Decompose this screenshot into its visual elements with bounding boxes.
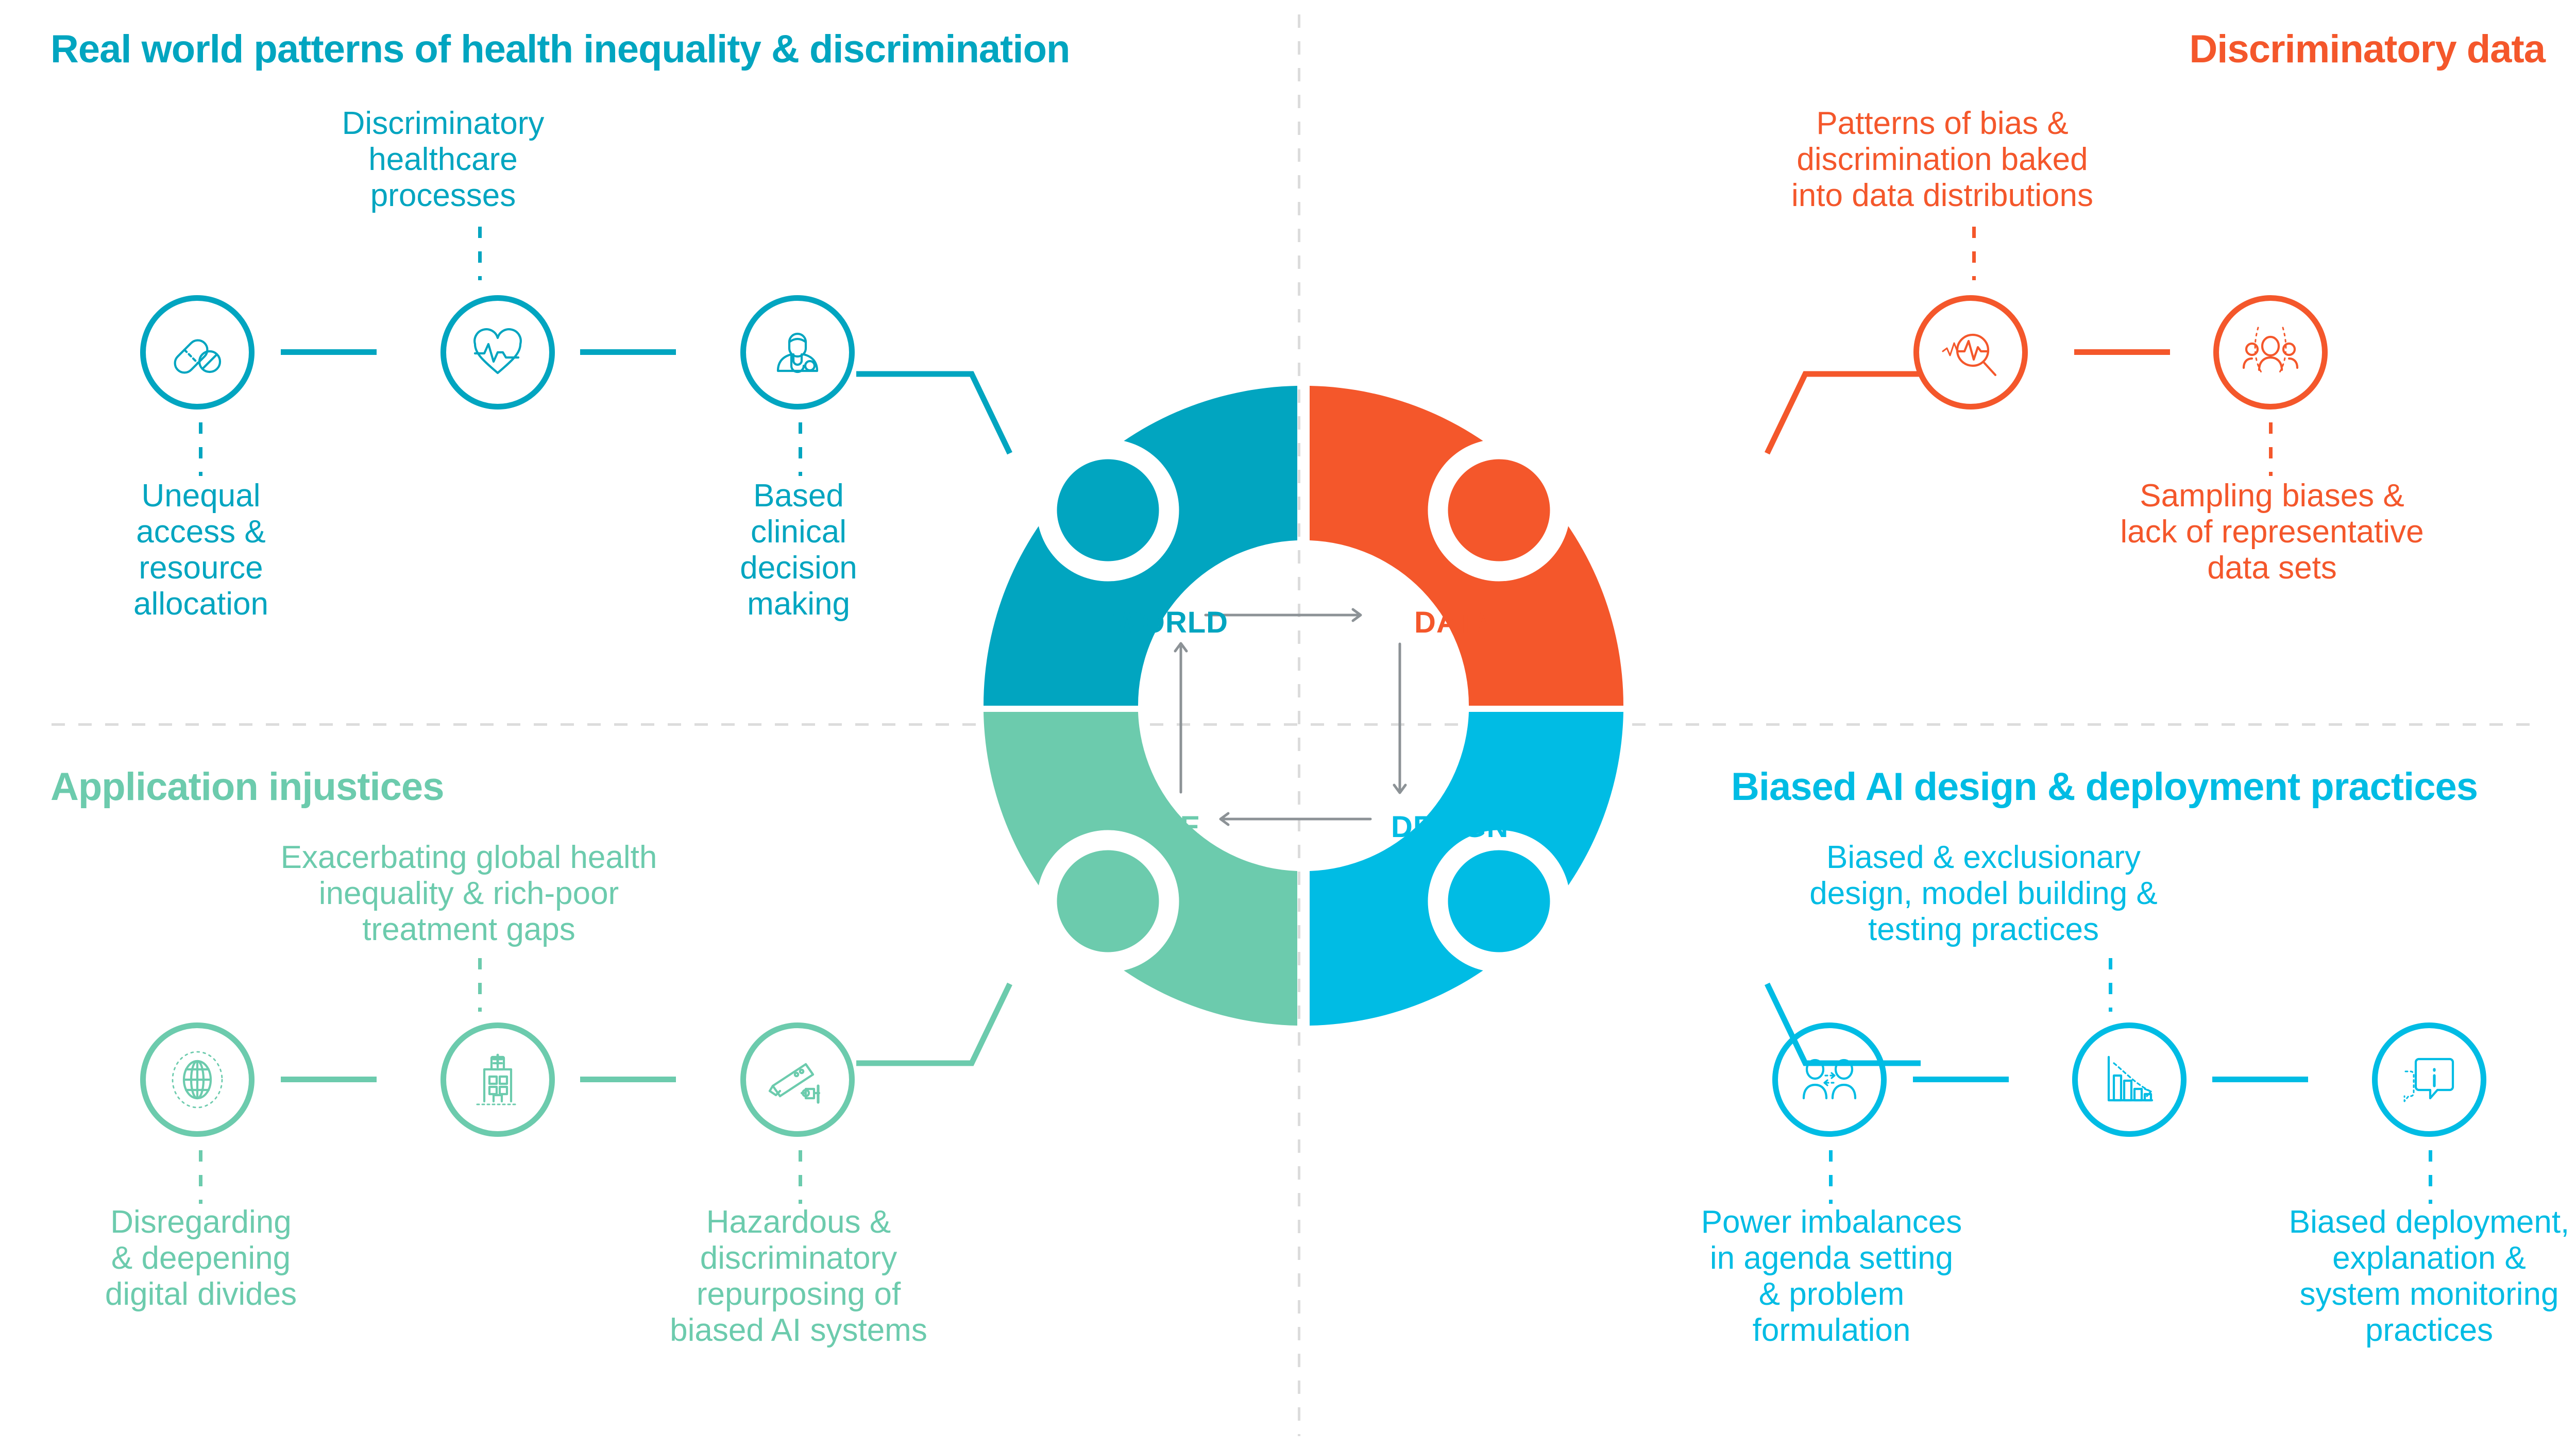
leader-line (2269, 422, 2273, 476)
globe-icon[interactable] (140, 1022, 255, 1137)
infographic-canvas: Real world patterns of health inequality… (0, 0, 2576, 1449)
doctor-icon[interactable] (740, 295, 855, 410)
connector-bar (580, 1077, 676, 1082)
caption-exacerbating-global-health-inequality: Exacerbating global health inequality & … (242, 840, 696, 948)
caption-power-imbalances-agenda-setting: Power imbalances in agenda setting & pro… (1674, 1204, 1989, 1349)
data-magnifier-glyph (1938, 319, 2004, 385)
leader-line (2109, 958, 2112, 1012)
wheel-label-world: WORLD (1113, 605, 1228, 640)
caption-patterns-of-bias-baked-into-data: Patterns of bias & discrimination baked … (1747, 106, 2138, 214)
caption-biased-exclusionary-design-model-building: Biased & exclusionary design, model buil… (1757, 840, 2210, 948)
caption-based-clinical-decision-making: Based clinical decision making (685, 478, 912, 622)
leader-line (2429, 1150, 2432, 1204)
hospital-icon[interactable] (440, 1022, 555, 1137)
globe-glyph (164, 1047, 230, 1113)
caption-discriminatory-healthcare-processes: Discriminatory healthcare processes (309, 106, 577, 214)
wheel-label-design: DESIGN (1391, 810, 1509, 844)
connector-bar (580, 349, 676, 355)
caption-sampling-biases-lack-of-representative-data-sets: Sampling biases & lack of representative… (2081, 478, 2463, 586)
doctor-glyph (765, 319, 831, 385)
leader-line (199, 1150, 202, 1204)
wheel-label-data: DATA (1414, 605, 1495, 640)
heading-bottom-left: Application injustices (50, 768, 444, 807)
heading-bottom-right: Biased AI design & deployment practices (1731, 768, 2478, 807)
leader-line (199, 422, 202, 476)
info-speech-icon[interactable] (2372, 1022, 2486, 1137)
leader-line (1972, 227, 1976, 280)
cctv-camera-icon[interactable] (740, 1022, 855, 1137)
caption-biased-deployment-explanation-monitoring: Biased deployment, explanation & system … (2262, 1204, 2576, 1349)
caption-hazardous-discriminatory-repurposing: Hazardous & discriminatory repurposing o… (634, 1204, 963, 1349)
info-speech-glyph (2396, 1047, 2462, 1113)
cctv-camera-glyph (765, 1047, 831, 1113)
heading-top-left: Real world patterns of health inequality… (50, 30, 1070, 69)
heartbeat-icon[interactable] (440, 295, 555, 410)
pills-glyph (164, 319, 230, 385)
wheel-knob-data (1448, 459, 1550, 561)
leader-line (478, 227, 482, 280)
heartbeat-glyph (465, 319, 531, 385)
declining-chart-icon[interactable] (2072, 1022, 2187, 1137)
connector-bar (2212, 1077, 2308, 1082)
caption-disregarding-deepening-digital-divides: Disregarding & deepening digital divides (77, 1204, 325, 1312)
caption-unequal-access-resource-allocation: Unequal access & resource allocation (88, 478, 314, 622)
people-group-glyph (2238, 319, 2303, 385)
connector-bar (281, 1077, 377, 1082)
declining-chart-glyph (2096, 1047, 2162, 1113)
connector-bar (2074, 349, 2170, 355)
wheel-knob-world (1057, 459, 1159, 561)
wheel-knob-design (1448, 850, 1550, 952)
heading-top-right: Discriminatory data (2189, 30, 2545, 69)
connector-bar (281, 349, 377, 355)
people-group-icon[interactable] (2213, 295, 2328, 410)
leader-line (799, 1150, 802, 1204)
pills-icon[interactable] (140, 295, 255, 410)
leader-line (478, 958, 482, 1012)
wheel-label-use: USE (1138, 810, 1200, 844)
hospital-glyph (465, 1047, 531, 1113)
leader-line (1829, 1150, 1833, 1204)
wheel-knob-use (1057, 850, 1159, 952)
leader-line (799, 422, 802, 476)
